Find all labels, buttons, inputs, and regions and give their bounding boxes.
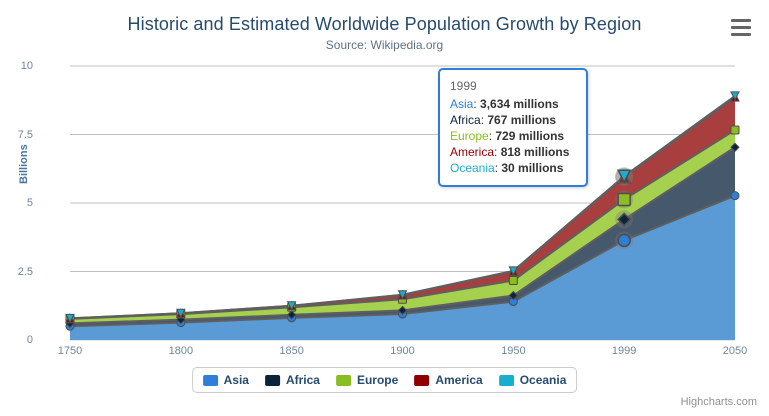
marker-circle [618,234,630,246]
legend-item-label: Asia [224,373,249,387]
chart-title: Historic and Estimated Worldwide Populat… [0,14,769,35]
y-axis-tick-label: 2.5 [0,266,33,278]
menu-bar-1 [731,19,751,22]
y-axis-tick-label: 10 [0,60,33,72]
legend-swatch-icon [499,375,514,386]
tooltip-row: America: 818 millions [450,144,576,160]
tooltip: 1999 Asia: 3,634 millionsAfrica: 767 mil… [438,68,588,187]
data-point-asia-1999[interactable] [615,231,633,249]
tooltip-series-value: 30 millions [501,161,563,175]
marker-square [509,277,517,285]
legend-item-europe[interactable]: Europe [336,373,398,387]
tooltip-series-name: America [450,145,494,159]
legend-items: AsiaAfricaEuropeAmericaOceania [203,373,567,387]
y-axis-tick-label: 7.5 [0,129,33,141]
tooltip-series-name: Europe [450,129,489,143]
tooltip-header: 1999 [450,78,576,96]
tooltip-series-value: 818 millions [501,145,570,159]
tooltip-series-value: 729 millions [495,129,564,143]
chart-subtitle: Source: Wikipedia.org [0,38,769,52]
legend-item-label: Africa [286,373,320,387]
tooltip-row: Europe: 729 millions [450,128,576,144]
menu-bar-2 [731,26,751,29]
legend-item-america[interactable]: America [414,373,482,387]
tooltip-series-value: 767 millions [487,113,556,127]
legend-item-label: Oceania [520,373,567,387]
data-point-oceania-1999[interactable] [615,167,633,185]
x-axis-tick-label: 1750 [58,345,82,357]
legend-item-asia[interactable]: Asia [203,373,249,387]
data-point-europe-1950[interactable] [509,277,517,285]
tooltip-row: Asia: 3,634 millions [450,96,576,112]
marker-square [618,193,630,205]
x-axis-tick-label: 1950 [501,345,525,357]
y-axis-title: Billions [18,144,30,184]
chart-plot [70,66,735,340]
legend-item-label: America [435,373,482,387]
legend-swatch-icon [336,375,351,386]
x-axis-tick-label: 2050 [723,345,747,357]
legend-item-africa[interactable]: Africa [265,373,320,387]
highcharts-container: Historic and Estimated Worldwide Populat… [0,0,769,416]
data-point-asia-2050[interactable] [731,192,739,200]
data-point-europe-1999[interactable] [615,190,633,208]
data-point-africa-1999[interactable] [615,210,633,228]
credits-label[interactable]: Highcharts.com [681,396,757,408]
plot-area [70,66,735,340]
legend-swatch-icon [265,375,280,386]
tooltip-series-name: Africa [450,113,481,127]
marker-square [731,126,739,134]
tooltip-series-name: Oceania [450,161,495,175]
x-axis-tick-label: 1800 [169,345,193,357]
tooltip-series-name: Asia [450,97,473,111]
marker-circle [731,192,739,200]
hamburger-menu-icon[interactable] [729,16,753,38]
menu-bar-3 [731,33,751,36]
legend-item-oceania[interactable]: Oceania [499,373,567,387]
x-axis-tick-label: 1999 [612,345,636,357]
legend-swatch-icon [203,375,218,386]
legend-swatch-icon [414,375,429,386]
x-axis-tick-label: 1900 [390,345,414,357]
chart-legend: AsiaAfricaEuropeAmericaOceania [192,367,578,393]
tooltip-rows: Asia: 3,634 millionsAfrica: 767 millions… [450,96,576,176]
y-axis-tick-label: 5 [0,197,33,209]
tooltip-row: Africa: 767 millions [450,112,576,128]
legend-item-label: Europe [357,373,398,387]
y-axis-tick-label: 0 [0,334,33,346]
x-axis-tick-label: 1850 [279,345,303,357]
tooltip-series-value: 3,634 millions [480,97,559,111]
data-point-europe-2050[interactable] [731,126,739,134]
tooltip-row: Oceania: 30 millions [450,160,576,176]
